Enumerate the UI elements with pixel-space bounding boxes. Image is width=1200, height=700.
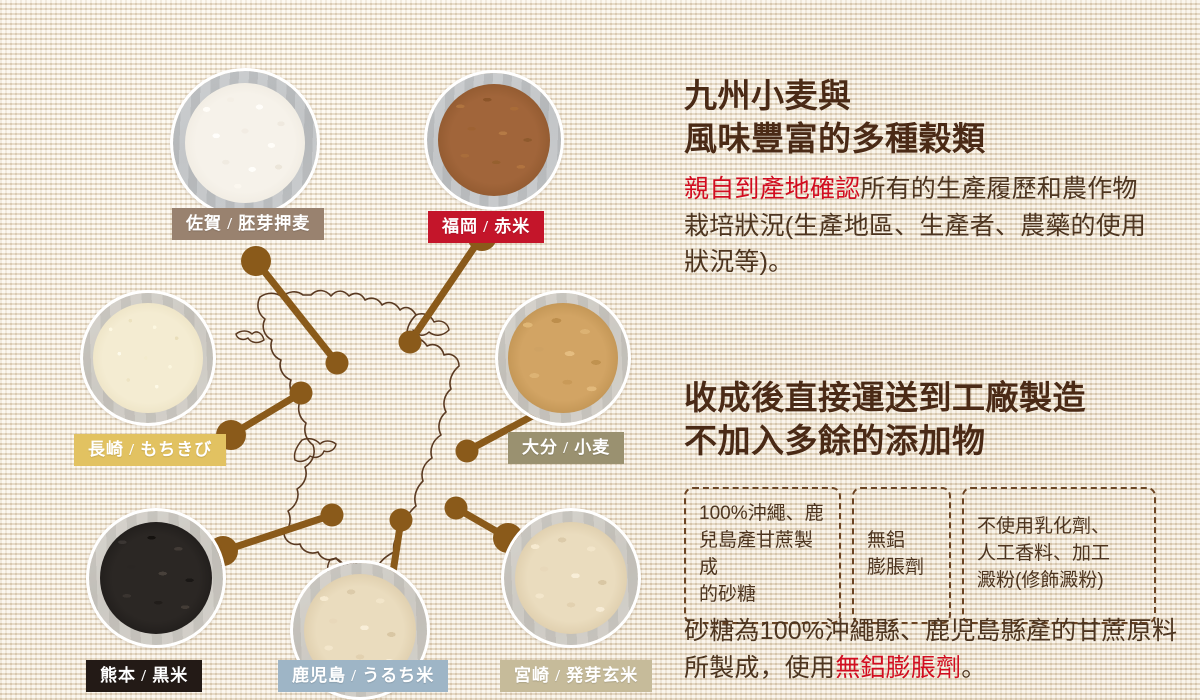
- section-two-footnote: 砂糖為100%沖繩縣、鹿児島縣產的甘蔗原料所製成，使用無鋁膨脹劑。: [684, 613, 1184, 686]
- endpoint-dot-saga: [241, 246, 271, 276]
- red-rice-photo: [424, 70, 564, 210]
- section-one-body: 親自到產地確認所有的生產履歷和農作物栽培狀況(生產地區、生產者、農藥的使用狀況等…: [684, 171, 1154, 281]
- section-two-heading-line1: 收成後直接運送到工廠製造: [684, 378, 1184, 421]
- glutinous-millet-photo: [80, 290, 216, 426]
- germinated-brown-rice-photo: [501, 508, 641, 648]
- grain-pile: [93, 303, 202, 412]
- grain-pile: [438, 84, 551, 197]
- map-dot-nagasaki: [290, 382, 313, 405]
- right-content-column: 九州小麦與 風味豐富的多種穀類 親自到產地確認所有的生產履歷和農作物栽培狀況(生…: [684, 0, 1184, 700]
- section-two: 收成後直接運送到工廠製造 不加入多餘的添加物: [684, 378, 1184, 463]
- region-label-oita[interactable]: 大分 / 小麦: [508, 432, 624, 464]
- section-one-heading: 九州小麦與 風味豐富的多種穀類: [684, 76, 1154, 161]
- feature-chip-row: 100%沖繩、鹿 兒島產甘蔗製成 的砂糖 無鋁 膨脹劑 不使用乳化劑、 人工香料…: [684, 487, 1156, 624]
- region-label-kumamoto[interactable]: 熊本 / 黒米: [86, 660, 202, 692]
- map-dot-kumamoto: [321, 504, 344, 527]
- map-dot-oita: [456, 440, 479, 463]
- feature-chip-sugar[interactable]: 100%沖繩、鹿 兒島產甘蔗製成 的砂糖: [684, 487, 841, 624]
- section-one: 九州小麦與 風味豐富的多種穀類 親自到產地確認所有的生產履歷和農作物栽培狀況(生…: [684, 76, 1154, 281]
- wheat-photo: [495, 290, 631, 426]
- section-one-heading-line1: 九州小麦與: [684, 76, 1154, 119]
- connector-fukuoka: [410, 236, 482, 342]
- region-label-fukuoka[interactable]: 福岡 / 赤米: [428, 211, 544, 243]
- grain-pile: [515, 522, 628, 635]
- map-dot-fukuoka: [399, 331, 422, 354]
- kyushu-island-outline: [236, 291, 459, 599]
- connector-saga: [256, 261, 337, 363]
- map-dot-kagoshima: [390, 509, 413, 532]
- connector-kumamoto: [223, 515, 332, 551]
- grain-pile: [100, 522, 213, 635]
- section-two-heading-line2: 不加入多餘的添加物: [684, 421, 1184, 464]
- pearled-barley-photo: [170, 68, 320, 218]
- section-one-body-highlight: 親自到產地確認: [684, 175, 860, 203]
- grain-pile: [185, 83, 306, 204]
- map-dot-miyazaki: [445, 497, 468, 520]
- footnote-part2: 。: [961, 654, 986, 682]
- footnote-highlight: 無鋁膨脹劑: [835, 654, 961, 682]
- map-dot-saga: [326, 352, 349, 375]
- region-label-nagasaki[interactable]: 長崎 / もちきび: [74, 434, 226, 466]
- grain-pile: [508, 303, 617, 412]
- section-one-heading-line2: 風味豐富的多種穀類: [684, 119, 1154, 162]
- infographic-stage: 佐賀 / 胚芽押麦 福岡 / 赤米 長崎 / もちきび 大分 / 小麦 熊本 /…: [0, 0, 1200, 700]
- region-label-kagoshima[interactable]: 鹿児島 / うるち米: [278, 660, 448, 692]
- feature-chip-no-additives[interactable]: 不使用乳化劑、 人工香料、加工 澱粉(修飾澱粉): [962, 487, 1156, 624]
- feature-chip-aluminum-free[interactable]: 無鋁 膨脹劑: [852, 487, 951, 624]
- region-label-miyazaki[interactable]: 宮崎 / 発芽玄米: [500, 660, 652, 692]
- black-rice-photo: [86, 508, 226, 648]
- section-two-heading: 收成後直接運送到工廠製造 不加入多餘的添加物: [684, 378, 1184, 463]
- map-pin-dots: [290, 331, 479, 532]
- region-label-saga[interactable]: 佐賀 / 胚芽押麦: [172, 208, 324, 240]
